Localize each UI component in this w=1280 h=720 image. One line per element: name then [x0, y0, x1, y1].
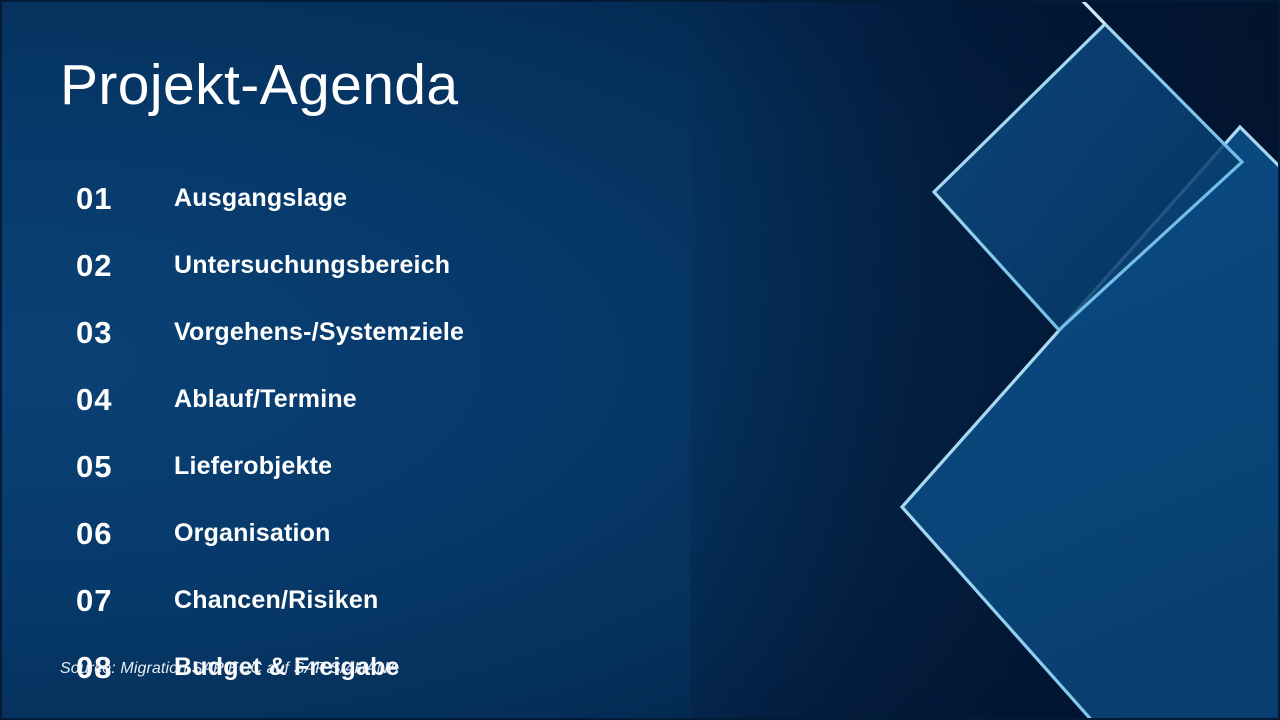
- agenda-item-label: Ausgangslage: [174, 186, 347, 211]
- agenda-item-number: 02: [76, 250, 174, 281]
- agenda-item-number: 06: [76, 518, 174, 549]
- agenda-item-07[interactable]: 07 Chancen/Risiken: [76, 567, 836, 634]
- agenda-item-02[interactable]: 02 Untersuchungsbereich: [76, 232, 836, 299]
- page-title: Projekt-Agenda: [60, 54, 459, 117]
- agenda-item-05[interactable]: 05 Lieferobjekte: [76, 433, 836, 500]
- agenda-item-number: 01: [76, 183, 174, 214]
- agenda-item-01[interactable]: 01 Ausgangslage: [76, 165, 836, 232]
- source-note: Source: Migration SAP ECC auf SAP S/4HAN…: [60, 660, 399, 678]
- agenda-item-number: 05: [76, 451, 174, 482]
- agenda-item-number: 03: [76, 317, 174, 348]
- agenda-list: 01 Ausgangslage 02 Untersuchungsbereich …: [76, 165, 836, 701]
- slide-canvas: Projekt-Agenda 01 Ausgangslage 02 Unters…: [0, 0, 1280, 720]
- agenda-item-04[interactable]: 04 Ablauf/Termine: [76, 366, 836, 433]
- agenda-item-number: 04: [76, 384, 174, 415]
- agenda-item-label: Organisation: [174, 521, 331, 546]
- agenda-item-label: Lieferobjekte: [174, 454, 332, 479]
- agenda-item-label: Vorgehens-/Systemziele: [174, 320, 464, 345]
- agenda-item-label: Untersuchungsbereich: [174, 253, 450, 278]
- agenda-item-label: Chancen/Risiken: [174, 588, 378, 613]
- agenda-item-06[interactable]: 06 Organisation: [76, 500, 836, 567]
- agenda-item-03[interactable]: 03 Vorgehens-/Systemziele: [76, 299, 836, 366]
- agenda-item-label: Ablauf/Termine: [174, 387, 357, 412]
- agenda-item-number: 07: [76, 585, 174, 616]
